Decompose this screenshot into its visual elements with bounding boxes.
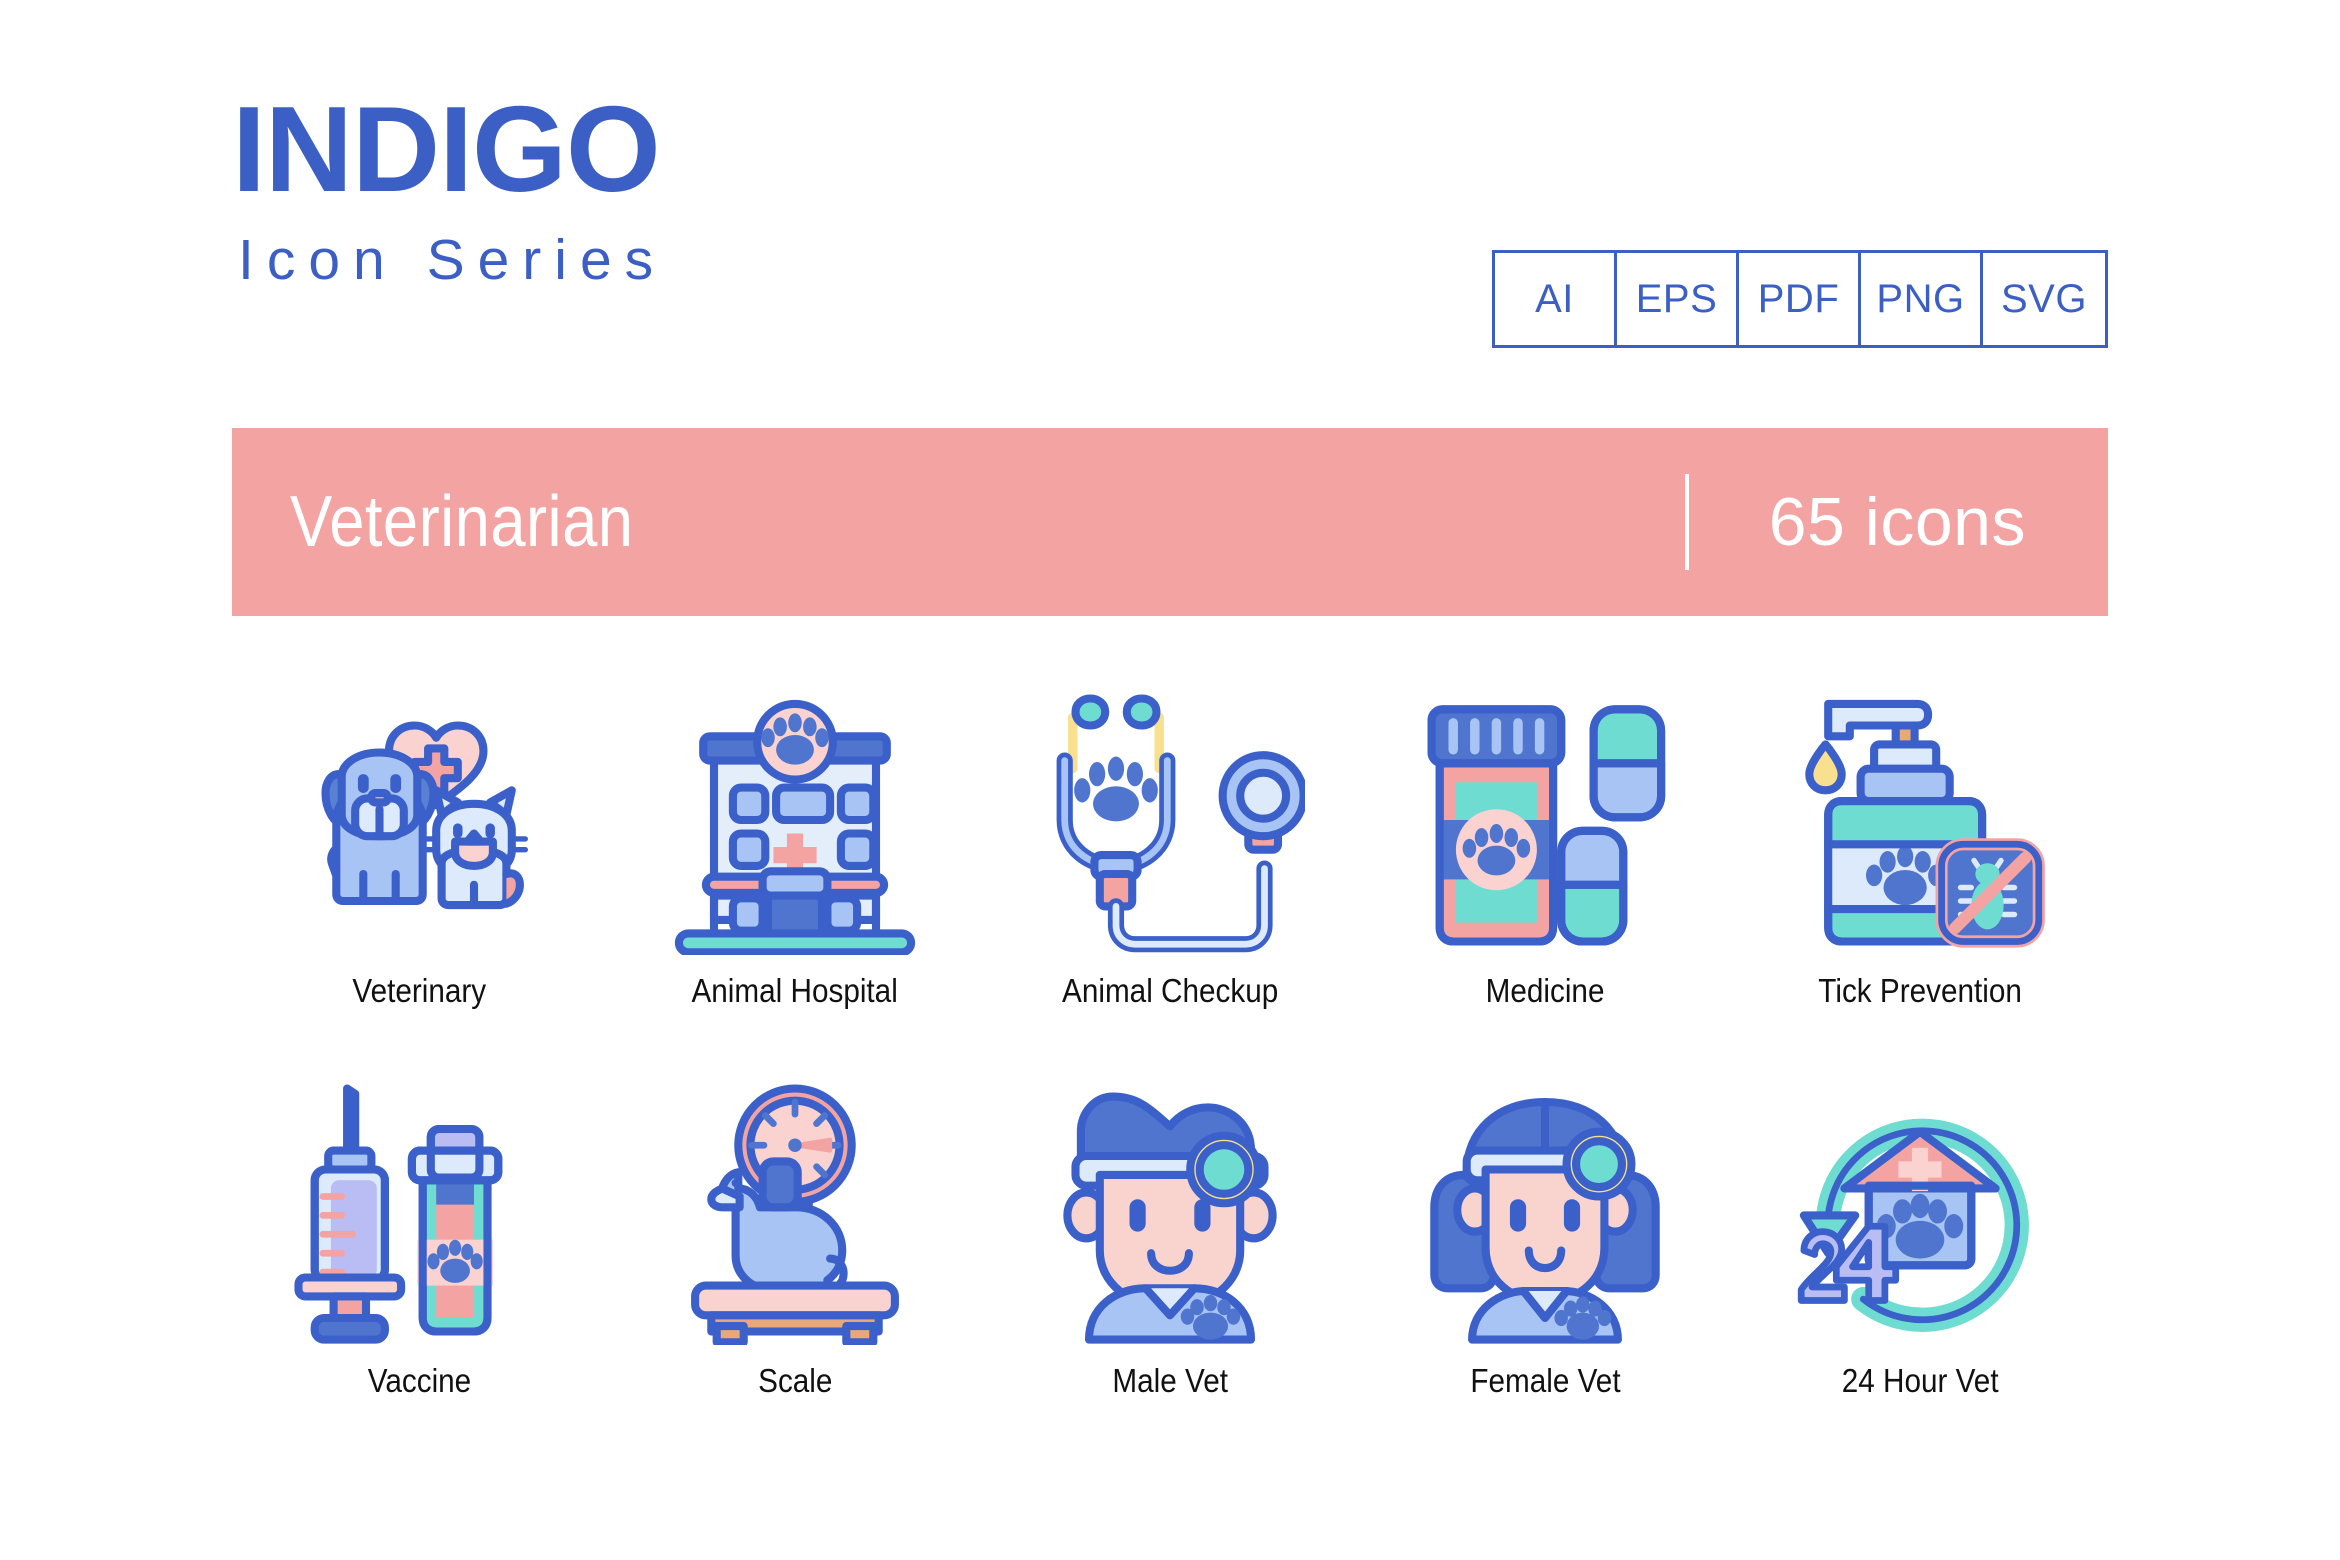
icon-label: Animal Checkup [1062, 972, 1278, 1010]
category-title: Veterinarian [290, 481, 633, 563]
medicine-icon [1395, 670, 1695, 970]
icon-grid: Veterinary [232, 670, 2108, 1450]
male-vet-icon [1020, 1060, 1320, 1360]
vaccine-icon [270, 1060, 570, 1360]
icon-label: Vaccine [368, 1362, 471, 1400]
veterinary-icon [270, 670, 570, 970]
animal-hospital-icon [645, 670, 945, 970]
format-badge-png[interactable]: PNG [1861, 253, 1983, 345]
icon-cell-animal-hospital[interactable]: Animal Hospital [607, 670, 982, 1060]
icon-label: Animal Hospital [692, 972, 898, 1010]
icon-cell-medicine[interactable]: Medicine [1358, 670, 1733, 1060]
tick-prevention-icon [1770, 670, 2070, 970]
format-badge-ai[interactable]: AI [1495, 253, 1617, 345]
banner-divider [1685, 474, 1689, 570]
brand-title: INDIGO [232, 88, 666, 210]
icon-cell-vaccine[interactable]: Vaccine [232, 1060, 607, 1450]
icon-cell-female-vet[interactable]: Female Vet [1358, 1060, 1733, 1450]
icon-cell-veterinary[interactable]: Veterinary [232, 670, 607, 1060]
icon-label: 24 Hour Vet [1842, 1362, 1999, 1400]
banner-right-group: 65 icons [1685, 428, 2108, 616]
icon-label: Tick Prevention [1819, 972, 2023, 1010]
icon-set-preview-page: INDIGO Icon Series AI EPS PDF PNG SVG Ve… [0, 0, 2340, 1560]
icon-count-label: 65 icons [1769, 483, 2026, 561]
format-badge-pdf[interactable]: PDF [1739, 253, 1861, 345]
female-vet-icon [1395, 1060, 1695, 1360]
brand-block: INDIGO Icon Series [232, 88, 666, 289]
format-badges: AI EPS PDF PNG SVG [1492, 250, 2108, 348]
icon-cell-male-vet[interactable]: Male Vet [982, 1060, 1357, 1450]
icon-label: Medicine [1486, 972, 1605, 1010]
brand-subtitle: Icon Series [238, 232, 666, 289]
icon-label: Male Vet [1112, 1362, 1228, 1400]
icon-cell-scale[interactable]: Scale [607, 1060, 982, 1450]
icon-label: Female Vet [1470, 1362, 1620, 1400]
icon-cell-animal-checkup[interactable]: Animal Checkup [982, 670, 1357, 1060]
icon-label: Veterinary [353, 972, 487, 1010]
format-badge-svg[interactable]: SVG [1983, 253, 2105, 345]
24-hour-vet-icon [1770, 1060, 2070, 1360]
animal-checkup-icon [1020, 670, 1320, 970]
icon-cell-24-hour-vet[interactable]: 24 Hour Vet [1733, 1060, 2108, 1450]
category-banner: Veterinarian 65 icons [232, 428, 2108, 616]
scale-icon [645, 1060, 945, 1360]
icon-label: Scale [758, 1362, 832, 1400]
icon-cell-tick-prevention[interactable]: Tick Prevention [1733, 670, 2108, 1060]
format-badge-eps[interactable]: EPS [1617, 253, 1739, 345]
